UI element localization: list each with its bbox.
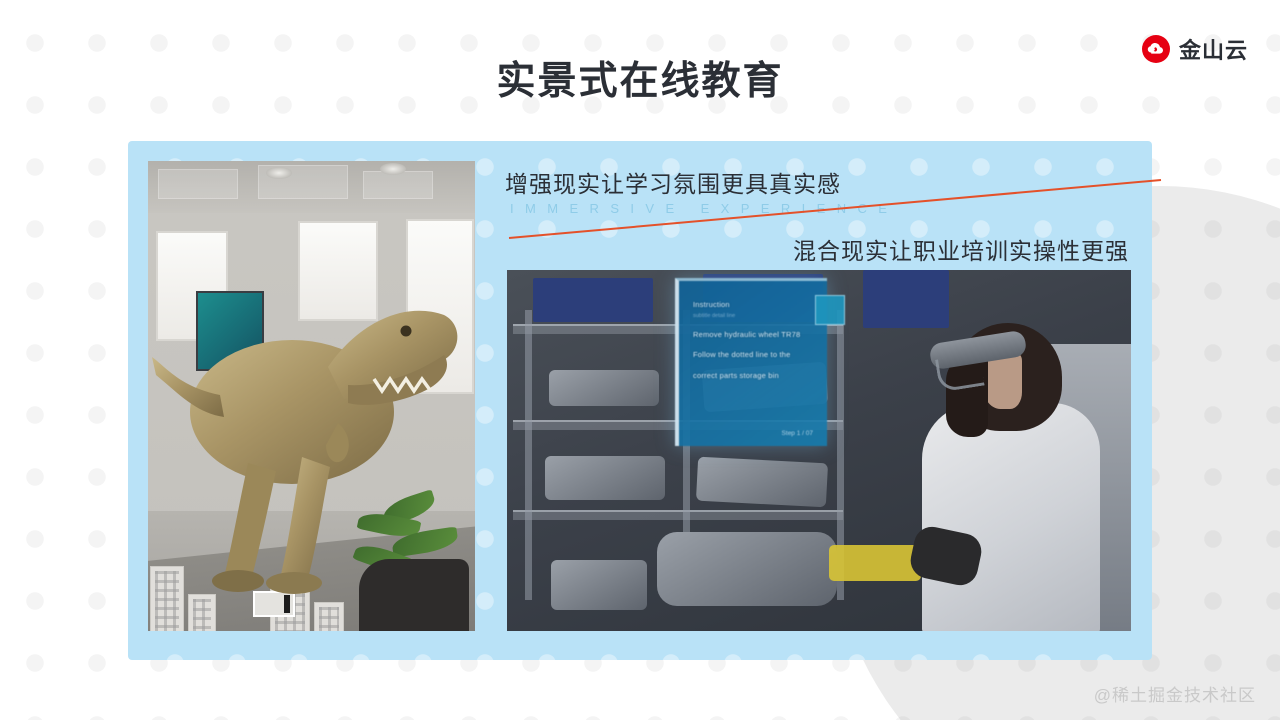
brand-logo: 金山云 [1142, 33, 1248, 65]
ceiling-lamp [380, 163, 406, 175]
ar-overlay-subtitle: subtitle detail line [693, 313, 815, 319]
worker-labcoat [922, 403, 1100, 631]
headline-primary: 增强现实让学习氛围更具真实感 [505, 165, 841, 199]
brand-name: 金山云 [1179, 33, 1248, 65]
ceiling-lamp [266, 167, 292, 179]
shelf [513, 510, 843, 520]
ar-overlay-step-label: Step 1 / 07 [782, 430, 813, 437]
worker-with-ar-headset [912, 315, 1127, 631]
engine-part [549, 370, 659, 406]
engine-part [696, 457, 828, 508]
yellow-parts-tray [829, 545, 921, 581]
ar-overlay-line-1: Remove hydraulic wheel TR78 [693, 329, 815, 341]
ar-overlay-line-3: correct parts storage bin [693, 370, 815, 382]
ar-overlay-heading: Instruction [693, 299, 815, 311]
slide-canvas: 实景式在线教育 金山云 [0, 0, 1280, 720]
ar-overlay-badge [815, 295, 845, 325]
page-title: 实景式在线教育 [0, 50, 1280, 106]
watermark: @稀土掘金技术社区 [1094, 681, 1256, 706]
office-room-scene [148, 161, 475, 631]
storage-bin [533, 278, 653, 322]
workshop-scene: Instruction subtitle detail line Remove … [507, 270, 1131, 631]
media-right-mr-training[interactable]: Instruction subtitle detail line Remove … [507, 270, 1131, 631]
tool-cart [551, 560, 647, 610]
headline-secondary: 混合现实让职业培训实操性更强 [793, 232, 1129, 266]
ceiling [148, 161, 475, 213]
media-left-ar-dinosaur[interactable] [148, 161, 475, 631]
ceiling-tile [158, 169, 238, 199]
subhead-english: IMMERSIVE EXPERIENCE [510, 201, 898, 216]
shelf-post [525, 310, 532, 600]
ar-overlay-line-2: Follow the dotted line to the [693, 349, 815, 361]
ar-instruction-overlay: Instruction subtitle detail line Remove … [675, 278, 827, 446]
engine-part [545, 456, 665, 500]
ceiling-tile [363, 171, 433, 199]
engine-block [657, 532, 837, 606]
cloud-logo-icon [1142, 35, 1170, 63]
ar-tyrannosaurus-model [152, 227, 474, 617]
